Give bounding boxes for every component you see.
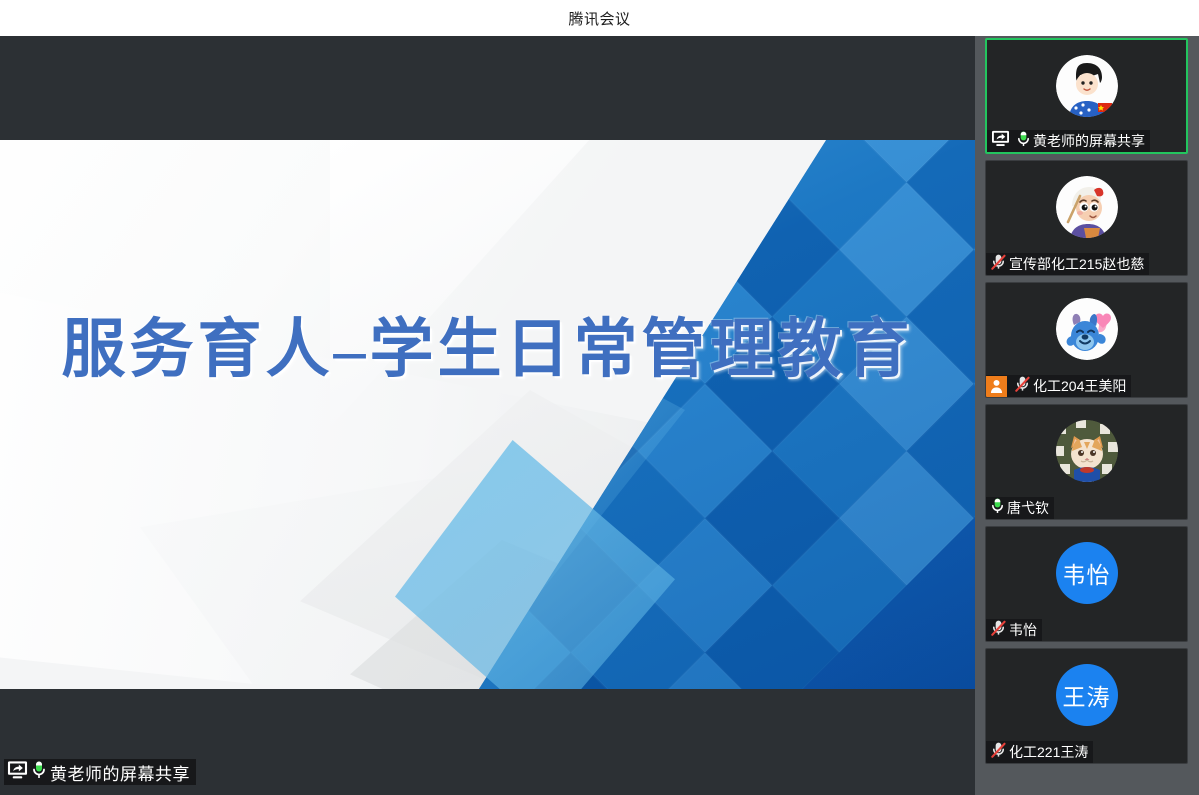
mic-on-icon[interactable] xyxy=(990,497,1005,520)
participant-name-bar: 化工204王美阳 xyxy=(986,375,1131,397)
participant-name: 韦怡 xyxy=(1009,620,1037,640)
window-title: 腾讯会议 xyxy=(568,8,630,29)
participant-name: 黄老师的屏幕共享 xyxy=(1033,131,1145,151)
participant-name: 宣传部化工215赵也慈 xyxy=(1009,254,1144,274)
participant-name: 化工204王美阳 xyxy=(1033,376,1126,396)
screen-share-label: 黄老师的屏幕共享 xyxy=(4,759,196,785)
participant-name: 化工221王涛 xyxy=(1009,742,1088,762)
participant-name-bar: 唐弋钦 xyxy=(986,497,1054,519)
slide-title: 服务育人–学生日常管理教育 xyxy=(0,298,975,390)
mic-muted-icon[interactable] xyxy=(990,741,1007,764)
participant-name-bar: 黄老师的屏幕共享 xyxy=(987,130,1150,152)
avatar: 王涛 xyxy=(1056,664,1118,726)
participant-name-bar: 化工221王涛 xyxy=(986,741,1093,763)
participant-name-bar: 宣传部化工215赵也慈 xyxy=(986,253,1149,275)
mic-muted-icon[interactable] xyxy=(1014,375,1031,398)
participant-tile[interactable]: 王涛 化工221王涛 xyxy=(985,648,1188,764)
participant-tile[interactable]: 宣传部化工215赵也慈 xyxy=(985,160,1188,276)
screen-share-icon xyxy=(7,760,28,785)
shared-slide: 服务育人–学生日常管理教育 xyxy=(0,140,975,689)
participant-tile[interactable]: 黄老师的屏幕共享 xyxy=(985,38,1188,154)
mic-on-icon[interactable] xyxy=(1016,130,1031,153)
avatar xyxy=(1056,420,1118,482)
avatar: 韦怡 xyxy=(1056,542,1118,604)
shared-screen-stage[interactable]: 服务育人–学生日常管理教育 黄老师的屏幕共享 xyxy=(0,36,975,795)
window-title-bar: 腾讯会议 xyxy=(0,0,1199,36)
avatar xyxy=(1056,298,1118,360)
participant-name-bar: 韦怡 xyxy=(986,619,1042,641)
mic-muted-icon[interactable] xyxy=(990,619,1007,642)
avatar xyxy=(1056,55,1118,117)
participant-tile[interactable]: 化工204王美阳 xyxy=(985,282,1188,398)
participant-tile[interactable]: 唐弋钦 xyxy=(985,404,1188,520)
avatar xyxy=(1056,176,1118,238)
screen-share-label-text: 黄老师的屏幕共享 xyxy=(50,760,190,785)
participant-name: 唐弋钦 xyxy=(1007,498,1049,518)
participant-rail[interactable]: 黄老师的屏幕共享 宣传部化工215赵也慈 xyxy=(975,36,1199,795)
mic-on-icon xyxy=(31,760,47,785)
participant-tile[interactable]: 韦怡 韦怡 xyxy=(985,526,1188,642)
host-person-icon xyxy=(986,376,1007,397)
screen-share-icon xyxy=(991,130,1010,152)
mic-muted-icon[interactable] xyxy=(990,253,1007,276)
